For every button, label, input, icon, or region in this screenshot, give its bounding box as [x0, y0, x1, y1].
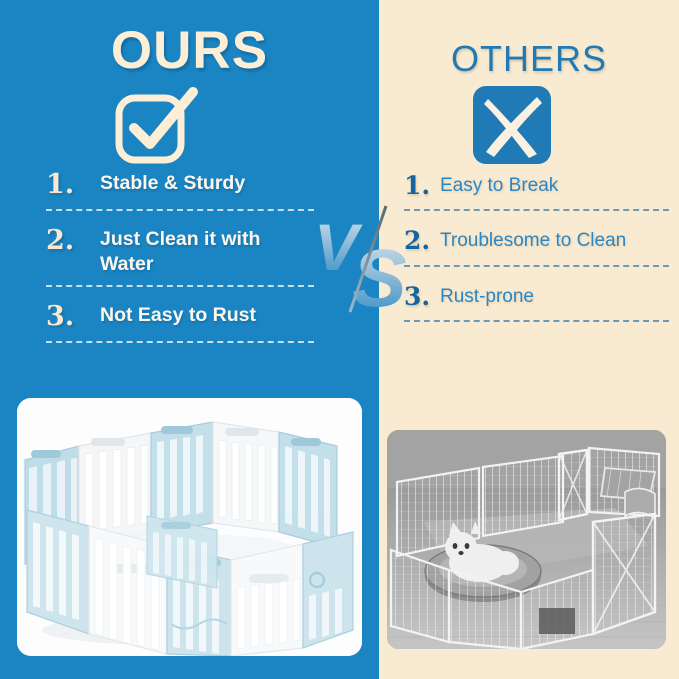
item-text: Easy to Break	[440, 170, 669, 198]
item-text: Rust-prone	[440, 281, 669, 309]
others-heading: OTHERS	[379, 38, 679, 80]
list-item: 3. Not Easy to Rust	[46, 300, 314, 334]
dashed-divider	[404, 209, 669, 211]
dashed-divider	[46, 209, 314, 211]
dashed-divider	[46, 341, 314, 343]
list-item: 2. Just Clean it with Water	[46, 224, 314, 278]
dashed-divider	[404, 320, 669, 322]
list-item: 2. Troublesome to Clean	[404, 225, 669, 256]
dashed-divider	[46, 285, 314, 287]
ours-feature-list: 1. Stable & Sturdy 2. Just Clean it with…	[46, 168, 314, 356]
item-number: 3.	[404, 281, 440, 312]
others-feature-list: 1. Easy to Break 2. Troublesome to Clean…	[404, 170, 669, 336]
item-number: 2.	[46, 224, 100, 258]
checkbox-check-icon	[113, 86, 199, 170]
item-text: Not Easy to Rust	[100, 300, 314, 329]
dashed-divider	[404, 265, 669, 267]
item-text: Troublesome to Clean	[440, 225, 669, 253]
others-product-photo	[387, 430, 666, 649]
list-item: 3. Rust-prone	[404, 281, 669, 312]
ours-product-photo	[17, 398, 362, 656]
item-number: 1.	[404, 170, 440, 201]
item-text: Just Clean it with Water	[100, 224, 314, 278]
list-item: 1. Stable & Sturdy	[46, 168, 314, 202]
item-text: Stable & Sturdy	[100, 168, 314, 197]
x-mark-icon	[471, 84, 553, 166]
comparison-infographic: OURS 1. Stable & Sturdy 2. Just Clean it…	[0, 0, 679, 679]
item-number: 3.	[46, 300, 100, 334]
item-number: 2.	[404, 225, 440, 256]
list-item: 1. Easy to Break	[404, 170, 669, 201]
item-number: 1.	[46, 168, 100, 202]
ours-heading: OURS	[0, 20, 379, 81]
